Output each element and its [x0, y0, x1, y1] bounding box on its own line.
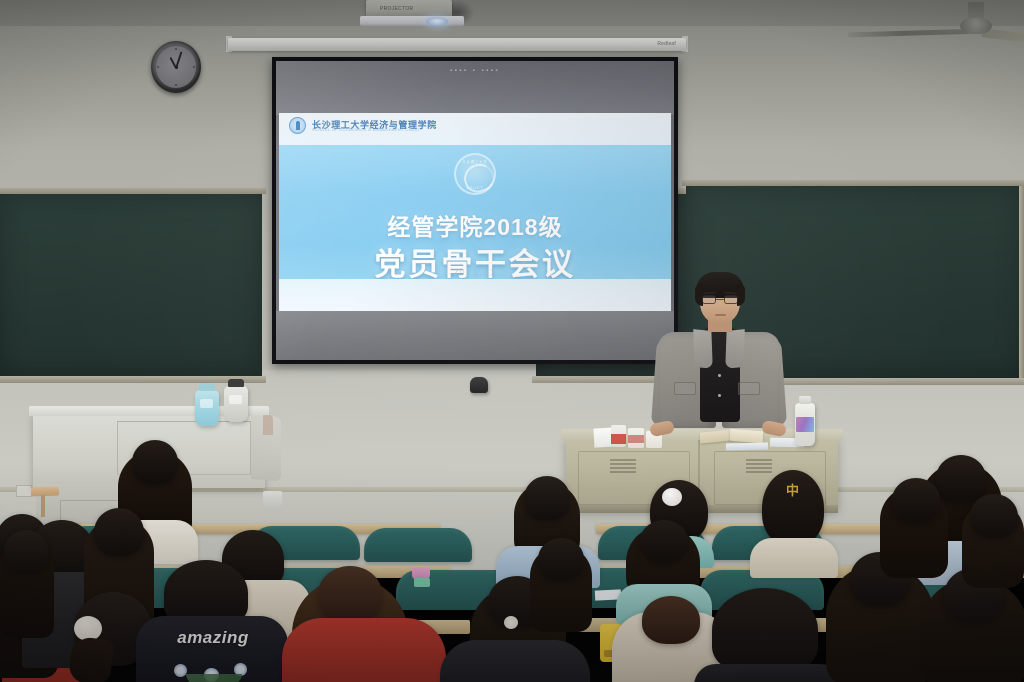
university-emblem-icon: 长沙理工大学 CSUST [454, 153, 496, 195]
projector-underside [360, 16, 464, 26]
presentation-slide: 长沙理工大学经济与管理学院 SCHOOL OF ECONOMICS & MANA… [279, 113, 671, 310]
water-bottle [795, 403, 815, 446]
wall-outlet-box [263, 491, 282, 509]
wall-clock [151, 41, 201, 93]
audience-person-mid-right-c [530, 538, 592, 632]
paper-cup-1 [611, 425, 626, 447]
audience-person-mid-left-a [0, 530, 54, 640]
projector-body: PROJECTOR [366, 0, 452, 17]
blackboard-left [0, 194, 262, 376]
projection-screen-surface: ▪▪▪▪ ▪ ▪▪▪▪ 长沙理工大学经济与管理学院 SCHOOL OF ECON… [276, 61, 674, 360]
audience-person-amazing-jacket: amazing [140, 560, 284, 682]
slide-topbar: ▪▪▪▪ ▪ ▪▪▪▪ [276, 61, 674, 115]
thermos-white [224, 386, 248, 422]
ceiling-projector: PROJECTOR [360, 0, 468, 30]
slide-title-line1: 经管学院2018级 [279, 208, 671, 242]
audience-person-front-right-boy [704, 588, 828, 682]
projection-screen-roller: Redleaf [228, 38, 686, 51]
clock-face [156, 46, 196, 88]
presenter-pocket-left [674, 382, 696, 395]
presenter-lapel-left [693, 329, 713, 369]
bottle-cap [799, 396, 811, 404]
presenter-lapel-right [725, 329, 745, 369]
presenter [652, 270, 784, 450]
slide-topbar-text: ▪▪▪▪ ▪ ▪▪▪▪ [276, 68, 674, 74]
paper-cup-2 [628, 428, 644, 448]
wall-switch-plate[interactable] [16, 485, 32, 497]
projection-screen: ▪▪▪▪ ▪ ▪▪▪▪ 长沙理工大学经济与管理学院 SCHOOL OF ECON… [272, 57, 678, 364]
jacket-floral-graphic [168, 658, 258, 682]
thermos-teal [195, 390, 219, 426]
presenter-mouth [715, 314, 726, 316]
hair-scrunchie [662, 488, 682, 506]
classroom-scene: PROJECTOR Redleaf ▪▪▪▪ ▪ ▪▪▪▪ 长沙理工大学经济与管… [0, 0, 1024, 682]
lectern-side-accent [263, 415, 273, 435]
screen-bottom-strip [276, 311, 674, 360]
presenter-pocket-right [738, 382, 760, 395]
thermos-label [200, 399, 213, 408]
fan-hub [960, 18, 992, 34]
jacket-graphic-text: amazing [148, 628, 278, 648]
blackboard-right-edge [1019, 186, 1024, 378]
bottle-label [796, 417, 814, 432]
audience-person-mid-right-a [962, 494, 1024, 590]
roller-brand-label: Redleaf [657, 41, 676, 47]
audience-person-hairclip: 中 [762, 470, 824, 566]
thermos-cap [228, 379, 244, 387]
blackboard-eraser [470, 377, 488, 393]
slide-blue-band: 长沙理工大学 CSUST 经管学院2018级 党员骨干会议 [279, 145, 671, 279]
ceiling-fan [848, 0, 1024, 52]
wooden-stool [31, 487, 59, 497]
emblem-top-text: 长沙理工大学 [456, 159, 494, 164]
seat-far-3 [364, 528, 472, 562]
podium-vent-left [610, 459, 636, 475]
audience-person-dark-jacket [440, 640, 590, 682]
thermos-cap [199, 383, 215, 391]
slide-title-line2: 党员骨干会议 [279, 239, 671, 284]
thermos-label [229, 395, 242, 404]
projector-label: PROJECTOR [380, 6, 413, 12]
slide-footer-band: 2021.01 [279, 279, 671, 311]
hairclip-glyph: 中 [786, 484, 799, 497]
emblem-bottom-text: CSUST [456, 186, 494, 190]
projector-lens-icon [426, 17, 448, 26]
audience-person-red-hoodie-center [282, 612, 446, 682]
green-book [414, 578, 430, 587]
clock-center-pin [175, 66, 178, 69]
slide-date-text: 2021.01 [279, 268, 671, 277]
hair-clip [504, 616, 518, 629]
glasses-icon [702, 295, 738, 304]
fan-blade-left [848, 29, 970, 37]
school-name-en: SCHOOL OF ECONOMICS & MANAGEMENT CSUST [312, 128, 420, 132]
audience-person-mid-right-b [880, 478, 948, 578]
presenter-hair-side-right [737, 284, 745, 306]
